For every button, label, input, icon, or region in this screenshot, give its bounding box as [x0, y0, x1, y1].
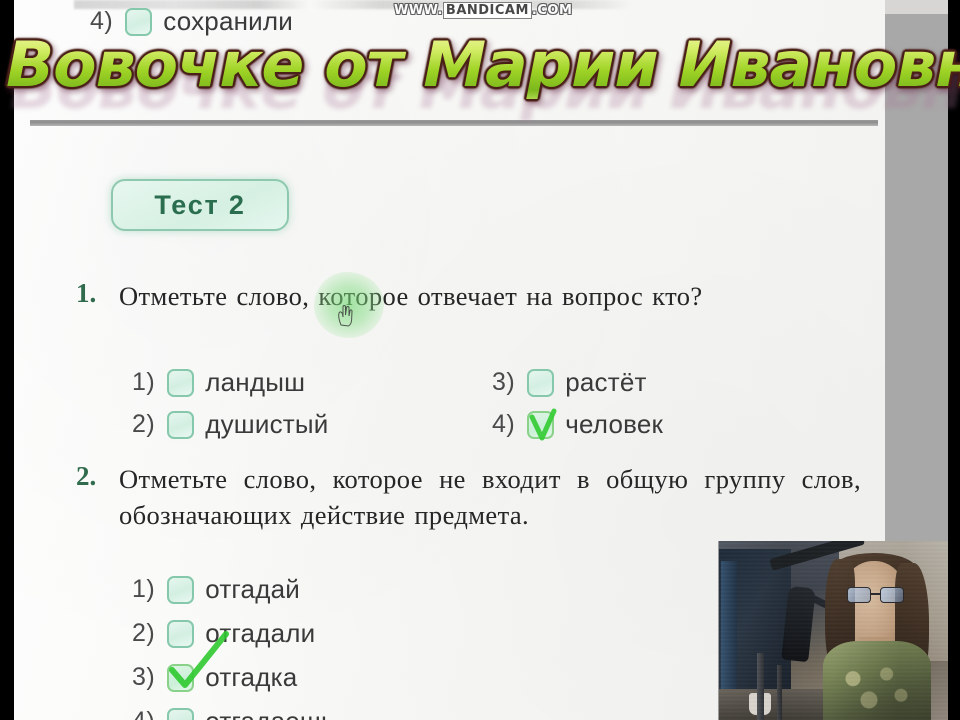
- checkbox-unchecked[interactable]: [167, 620, 194, 648]
- bandicam-watermark: WWW.BANDICAM.COM: [394, 3, 572, 18]
- option-number: 4): [492, 410, 515, 439]
- option-number: 1): [132, 368, 155, 397]
- option-label: душистый: [205, 409, 328, 440]
- option-number: 2): [132, 619, 155, 648]
- checkbox-unchecked[interactable]: [167, 411, 194, 439]
- option-number: 2): [132, 410, 155, 439]
- option-row-1-3[interactable]: 3) растёт: [492, 367, 647, 398]
- option-label: отгадаешь: [205, 706, 334, 720]
- option-label: ландыш: [205, 367, 305, 398]
- question-number: 1.: [76, 278, 96, 309]
- checkbox-unchecked[interactable]: [527, 369, 554, 397]
- option-label: отгадали: [205, 618, 315, 649]
- checkmark-icon: [527, 408, 559, 442]
- watermark-brand: BANDICAM: [443, 2, 532, 19]
- option-label: человек: [565, 409, 663, 440]
- checkbox-checked[interactable]: [167, 664, 194, 692]
- checkbox-checked[interactable]: [527, 411, 554, 439]
- checkbox-unchecked[interactable]: [167, 708, 194, 720]
- option-number: 3): [132, 663, 155, 692]
- checkbox-unchecked[interactable]: [167, 576, 194, 604]
- video-side-band-top: [885, 0, 948, 14]
- option-row-2-3[interactable]: 3) отгадка: [132, 662, 297, 693]
- video-frame: 4) сохранили Тест 2 1. Отметьте слово, к…: [0, 0, 960, 720]
- overlay-title: Вовочке от Марии Ивановны: [6, 28, 960, 101]
- option-row-1-4[interactable]: 4) человек: [492, 409, 663, 440]
- option-number: 3): [492, 368, 515, 397]
- watermark-prefix: WWW.: [394, 3, 443, 18]
- checkbox-unchecked[interactable]: [167, 369, 194, 397]
- option-row-2-1[interactable]: 1) отгадай: [132, 574, 300, 605]
- option-row-1-2[interactable]: 2) душистый: [132, 409, 329, 440]
- option-label: отгадай: [205, 574, 300, 605]
- option-number: 4): [132, 707, 155, 720]
- watermark-suffix: .COM: [532, 3, 572, 18]
- question-text: Отметьте слово, которое отвечает на вопр…: [119, 278, 859, 314]
- option-row-2-4[interactable]: 4) отгадаешь: [132, 706, 335, 720]
- webcam-overlay[interactable]: [718, 541, 948, 720]
- option-row-2-2[interactable]: 2) отгадали: [132, 618, 315, 649]
- question-1: 1. Отметьте слово, которое отвечает на в…: [14, 126, 885, 204]
- option-label: растёт: [565, 367, 646, 398]
- question-number: 2.: [76, 461, 96, 492]
- question-text: Отметьте слово, которое не входит в об­щ…: [119, 461, 861, 533]
- option-row-1-1[interactable]: 1) ландыш: [132, 367, 305, 398]
- webcam-compression-artifact: [719, 541, 948, 720]
- option-label: отгадка: [205, 662, 297, 693]
- option-number: 1): [132, 575, 155, 604]
